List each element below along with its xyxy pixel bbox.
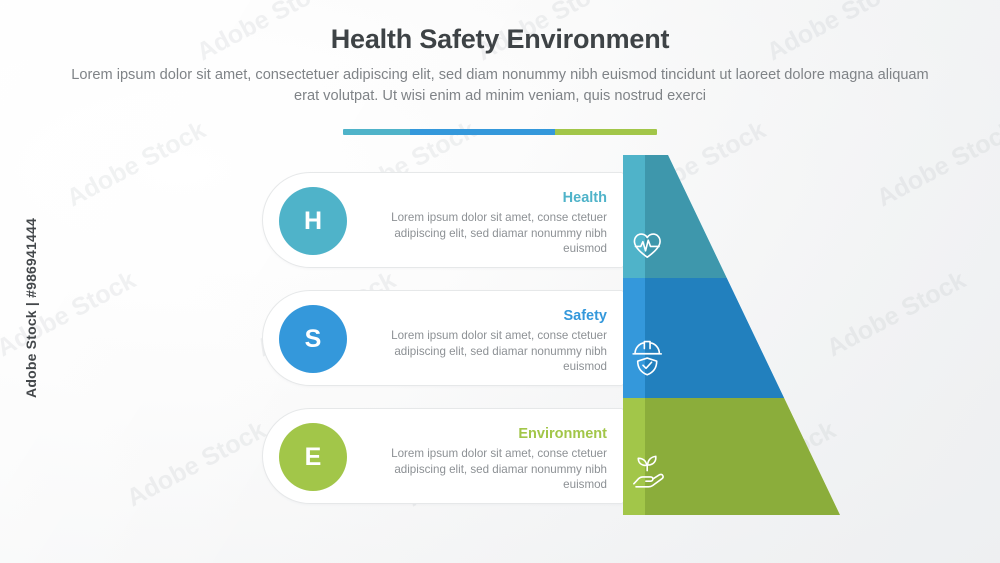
card-description: Lorem ipsum dolor sit amet, conse ctetue…	[377, 210, 607, 257]
page-title: Health Safety Environment	[0, 22, 1000, 56]
card-badge-environment: E	[279, 423, 347, 491]
card-letter: S	[305, 325, 322, 354]
accent-bar	[343, 129, 657, 135]
card-description: Lorem ipsum dolor sit amet, conse ctetue…	[377, 446, 607, 493]
card-badge-safety: S	[279, 305, 347, 373]
watermark-tile: Adobe Stock	[62, 116, 211, 213]
page-subtitle: Lorem ipsum dolor sit amet, consectetuer…	[60, 65, 940, 107]
card-description: Lorem ipsum dolor sit amet, conse ctetue…	[377, 328, 607, 375]
stock-watermark-label: Adobe Stock | #986941444	[23, 193, 39, 423]
card-list: H Health Lorem ipsum dolor sit amet, con…	[262, 172, 624, 526]
card-health[interactable]: H Health Lorem ipsum dolor sit amet, con…	[262, 172, 624, 268]
pyramid-chart	[600, 140, 900, 540]
card-letter: H	[304, 207, 322, 236]
accent-segment-health	[343, 129, 410, 135]
card-heading: Environment	[377, 425, 607, 443]
watermark-tile: Adobe Stock	[122, 416, 271, 513]
card-environment[interactable]: E Environment Lorem ipsum dolor sit amet…	[262, 408, 624, 504]
card-body: Safety Lorem ipsum dolor sit amet, conse…	[377, 307, 607, 375]
card-safety[interactable]: S Safety Lorem ipsum dolor sit amet, con…	[262, 290, 624, 386]
accent-segment-environment	[555, 129, 657, 135]
card-body: Health Lorem ipsum dolor sit amet, conse…	[377, 189, 607, 257]
watermark-tile: Adobe Stock	[0, 266, 141, 363]
card-heading: Safety	[377, 307, 607, 325]
accent-segment-safety	[410, 129, 555, 135]
infographic-canvas: Adobe Stock Adobe Stock Adobe Stock Adob…	[0, 0, 1000, 563]
header: Health Safety Environment Lorem ipsum do…	[0, 22, 1000, 107]
card-body: Environment Lorem ipsum dolor sit amet, …	[377, 425, 607, 493]
card-badge-health: H	[279, 187, 347, 255]
card-heading: Health	[377, 189, 607, 207]
card-letter: E	[305, 443, 322, 472]
